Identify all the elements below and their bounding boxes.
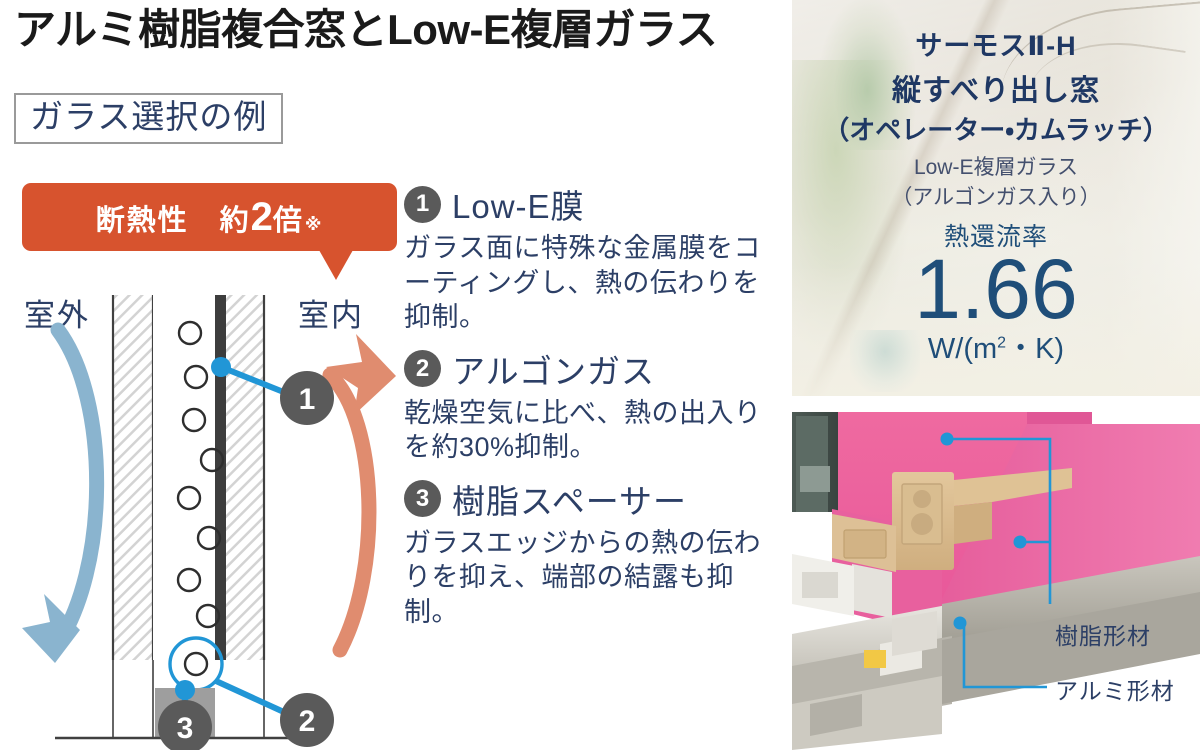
left-column: アルミ樹脂複合窓とLow‐E複層ガラス ガラス選択の例 断熱性 約 2 倍 ※ …	[0, 0, 792, 750]
frame-cutaway-photo-panel: 樹脂形材 アルミ形材	[792, 404, 1200, 750]
feature-item-1: 1 Low-E膜 ガラス面に特殊な金属膜をコーティングし、熱の伝わりを抑制。	[404, 180, 784, 335]
feature-1-head: 1 Low-E膜	[404, 180, 784, 228]
feature-item-2: 2 アルゴンガス 乾燥空気に比べ、熱の出入りを約30%抑制。	[404, 345, 784, 465]
unit-post: ・K)	[1006, 333, 1064, 365]
unit-pre: W/(m	[928, 333, 997, 365]
feature-2-number: 2	[404, 350, 441, 387]
feature-3-body: ガラスエッジからの熱の伝わりを抑え、端部の結露も抑制。	[404, 526, 784, 630]
inner-glass-pane	[224, 295, 264, 660]
svg-text:3: 3	[177, 712, 194, 745]
badge-number: 2	[251, 195, 273, 240]
insulation-badge: 断熱性 約 2 倍 ※	[22, 183, 397, 271]
outer-glass-pane	[113, 295, 153, 660]
spec-glass-type: Low-E複層ガラス	[792, 151, 1200, 181]
spec-text-block: サーモスⅡ-H 縦すべり出し窓 （オペレーター・カムラッチ） Low-E複層ガラ…	[792, 0, 1200, 396]
badge-footnote-mark: ※	[305, 215, 324, 235]
badge-text: 断熱性 約 2 倍 ※	[96, 195, 324, 240]
feature-3-head: 3 樹脂スペーサー	[404, 475, 784, 523]
badge-body: 断熱性 約 2 倍 ※	[22, 183, 397, 251]
outdoor-heat-arrow	[22, 330, 97, 663]
feature-3-title: 樹脂スペーサー	[452, 475, 687, 523]
feature-item-3: 3 樹脂スペーサー ガラスエッジからの熱の伝わりを抑え、端部の結露も抑制。	[404, 475, 784, 630]
unit-superscript: 2	[997, 335, 1006, 352]
feature-1-number: 1	[404, 186, 441, 223]
infographic-page: アルミ樹脂複合窓とLow‐E複層ガラス ガラス選択の例 断熱性 約 2 倍 ※ …	[0, 0, 1200, 750]
feature-list: 1 Low-E膜 ガラス面に特殊な金属膜をコーティングし、熱の伝わりを抑制。 2…	[404, 180, 784, 635]
page-title: アルミ樹脂複合窓とLow‐E複層ガラス	[14, 8, 794, 52]
feature-3-number: 3	[404, 480, 441, 517]
feature-2-title: アルゴンガス	[452, 345, 655, 393]
feature-1-title: Low-E膜	[452, 180, 585, 228]
spec-mechanism: （オペレーター・カムラッチ）	[792, 110, 1200, 147]
photo-label-resin: 樹脂形材	[1055, 617, 1151, 651]
badge-suffix: 倍	[273, 197, 304, 239]
badge-prefix: 断熱性 約	[96, 197, 251, 239]
spec-window-type: 縦すべり出し窓	[792, 67, 1200, 109]
subtitle-box: ガラス選択の例	[14, 93, 283, 144]
callout-leader-3: 3	[0, 680, 400, 750]
feature-2-body: 乾燥空気に比べ、熱の出入りを約30%抑制。	[404, 396, 784, 465]
leader-dot-resin-lower	[1014, 536, 1027, 549]
spec-product-name: サーモスⅡ-H	[792, 24, 1200, 63]
spec-gas-type: （アルゴンガス入り）	[792, 181, 1200, 211]
feature-1-body: ガラス面に特殊な金属膜をコーティングし、熱の伝わりを抑制。	[404, 231, 784, 335]
svg-text:1: 1	[299, 383, 316, 416]
photo-label-aluminium: アルミ形材	[1055, 672, 1175, 706]
feature-2-head: 2 アルゴンガス	[404, 345, 784, 393]
right-column: サーモスⅡ-H 縦すべり出し窓 （オペレーター・カムラッチ） Low-E複層ガラ…	[792, 0, 1200, 750]
product-spec-panel: サーモスⅡ-H 縦すべり出し窓 （オペレーター・カムラッチ） Low-E複層ガラ…	[792, 0, 1200, 396]
indoor-heat-arrow	[326, 334, 396, 650]
spec-metric-unit: W/(m2・K)	[792, 325, 1200, 367]
subtitle-label: ガラス選択の例	[30, 99, 267, 135]
leader-dot-resin-top	[941, 433, 954, 446]
low-e-coating-layer	[215, 295, 226, 660]
glass-cross-section-diagram: 1 2	[0, 270, 400, 750]
leader-dot-aluminium	[954, 617, 967, 630]
spec-metric-value: 1.66	[792, 245, 1200, 333]
